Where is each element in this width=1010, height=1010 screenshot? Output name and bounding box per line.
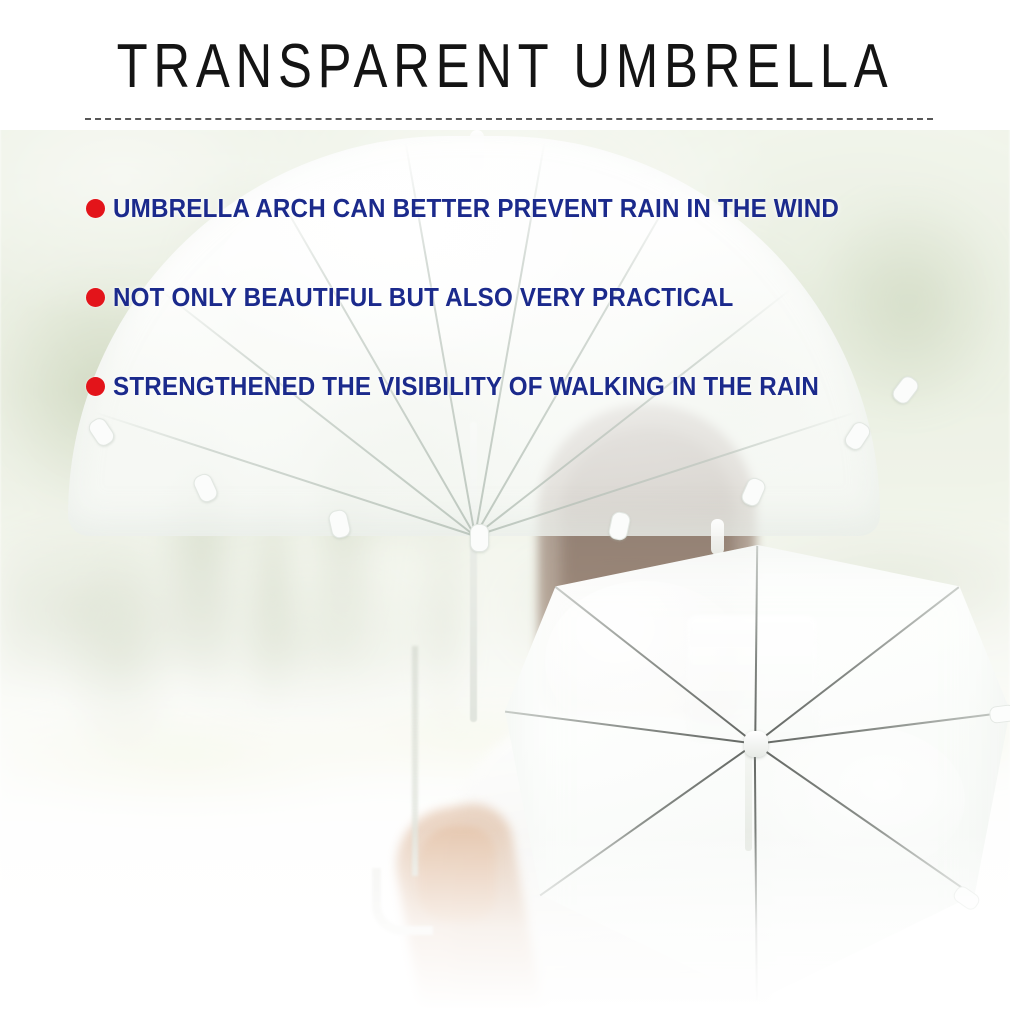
list-item: STRENGTHENED THE VISIBILITY OF WALKING I… (86, 364, 966, 408)
umbrella-octagon-top (505, 545, 1010, 1005)
octagon-hub-runner (744, 731, 768, 757)
bullet-dot-icon (86, 377, 105, 396)
octagon-stem (745, 745, 752, 851)
feature-label-2: NOT ONLY BEAUTIFUL BUT ALSO VERY PRACTIC… (113, 282, 733, 313)
list-item: NOT ONLY BEAUTIFUL BUT ALSO VERY PRACTIC… (86, 275, 966, 319)
page-title: TRANSPARENT UMBRELLA (91, 36, 919, 98)
octagon-inner-panel (687, 615, 817, 741)
bullet-dot-icon (86, 199, 105, 218)
product-feature-banner: TRANSPARENT UMBRELLA UMBRELLA ARCH CAN B… (0, 0, 1010, 1010)
octagon-ferrule-icon (711, 519, 724, 555)
title-dashed-divider (85, 118, 933, 120)
octagon-rib-tip (989, 704, 1010, 724)
feature-list: UMBRELLA ARCH CAN BETTER PREVENT RAIN IN… (86, 186, 966, 453)
feature-label-3: STRENGTHENED THE VISIBILITY OF WALKING I… (113, 371, 819, 402)
feature-label-1: UMBRELLA ARCH CAN BETTER PREVENT RAIN IN… (113, 193, 839, 224)
octagon-highlight-right (755, 725, 965, 875)
dome-rib-tip (470, 524, 489, 552)
list-item: UMBRELLA ARCH CAN BETTER PREVENT RAIN IN… (86, 186, 966, 230)
header-band: TRANSPARENT UMBRELLA (0, 0, 1010, 130)
bullet-dot-icon (86, 288, 105, 307)
octagon-canopy-surface (505, 545, 1010, 1005)
